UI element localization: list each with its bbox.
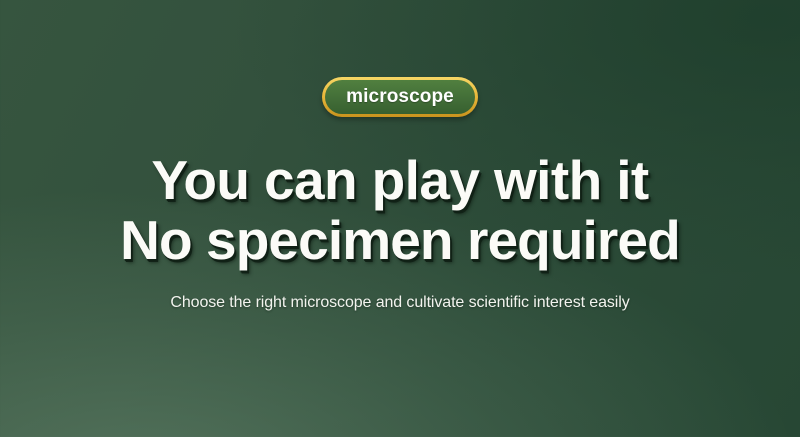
banner-content: microscope You can play with it No speci… xyxy=(0,76,800,314)
promo-banner: microscope You can play with it No speci… xyxy=(0,0,800,437)
category-badge[interactable]: microscope xyxy=(322,77,478,117)
headline-line-2: No specimen required xyxy=(0,210,800,270)
headline-line-1: You can play with it xyxy=(0,150,800,210)
page-title: You can play with it No specimen require… xyxy=(0,150,800,270)
badge-row: microscope xyxy=(0,76,800,120)
page-subtitle: Choose the right microscope and cultivat… xyxy=(0,292,800,314)
category-badge-label: microscope xyxy=(325,80,475,114)
